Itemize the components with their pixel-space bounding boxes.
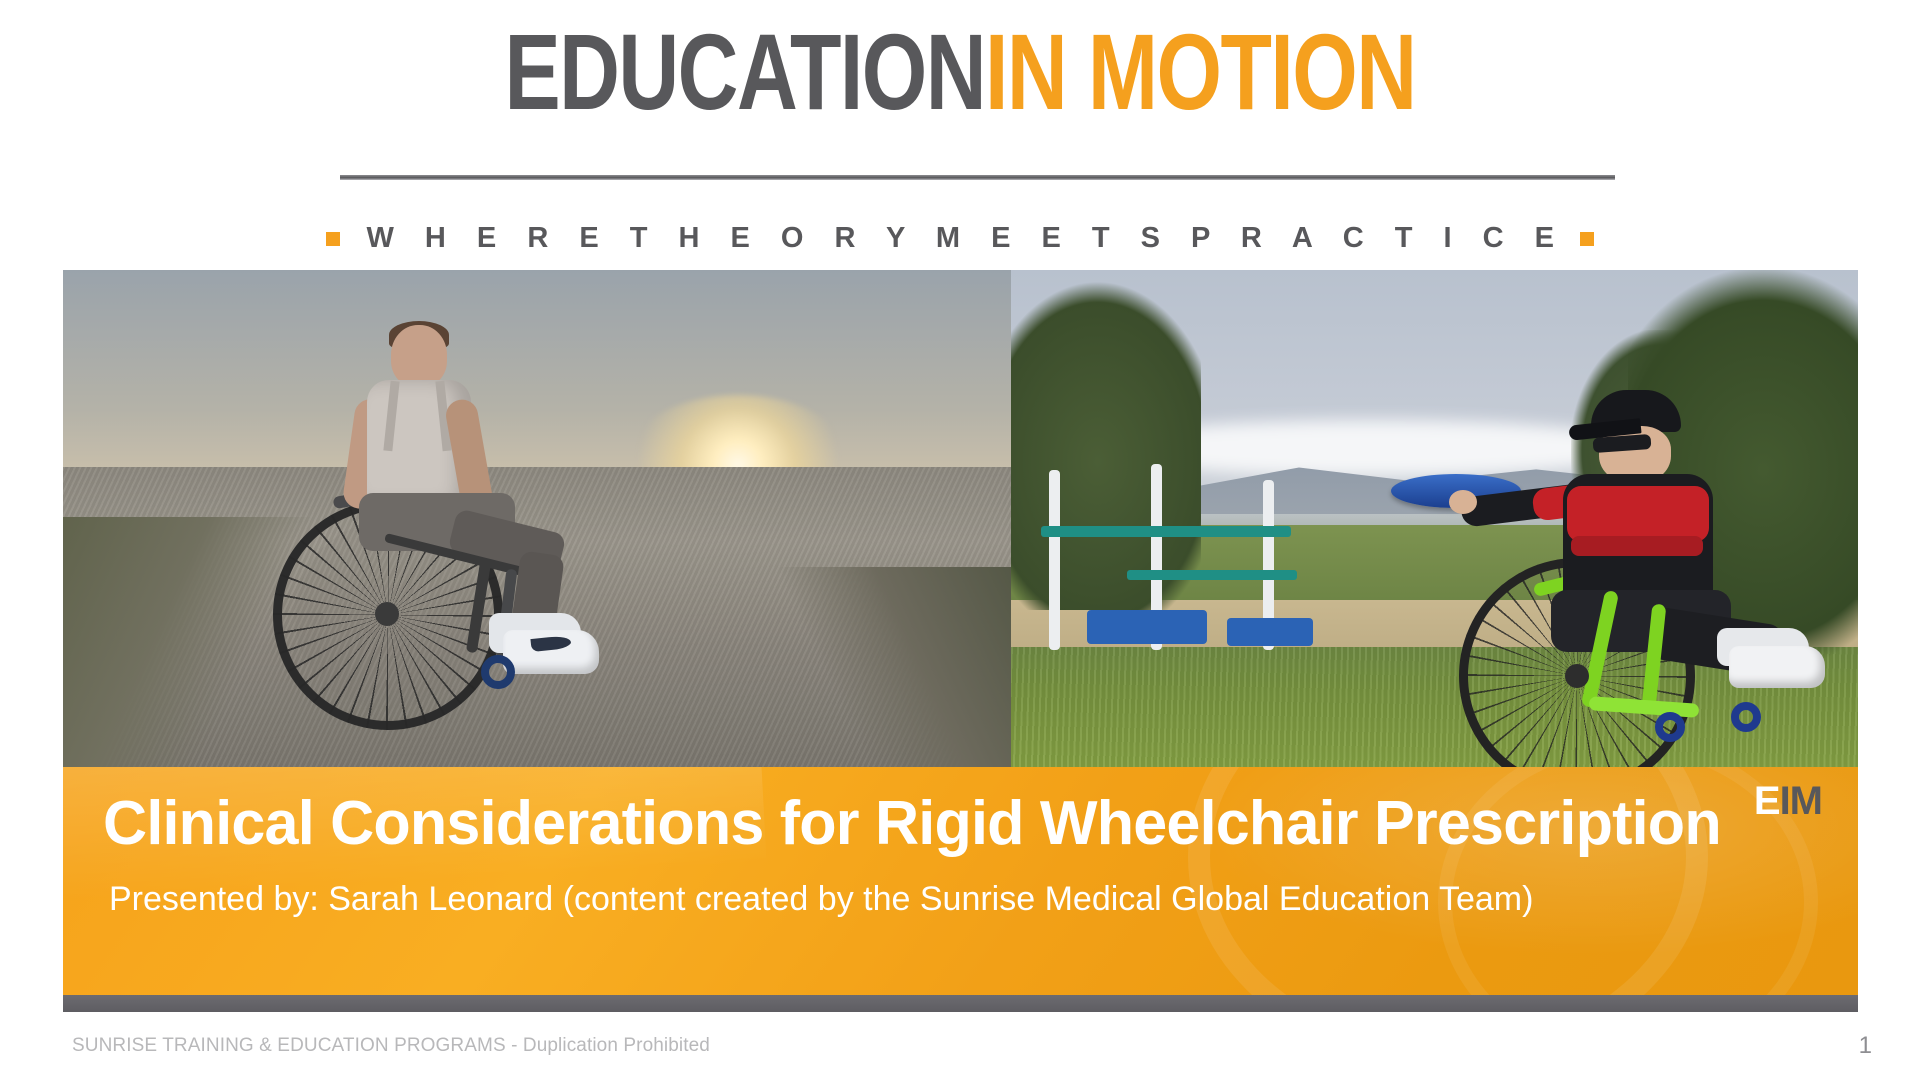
- tagline-text: W H E R E T H E O R Y M E E T S P R A C …: [366, 222, 1565, 255]
- playground-rail-teal-1: [1041, 526, 1291, 537]
- banner-bottom-bar: [63, 995, 1858, 1012]
- playground-equipment: [1031, 460, 1361, 660]
- presentation-slide: EDUCATIONIN MOTION W H E R E T H E O R Y…: [0, 0, 1920, 1080]
- jacket-red-panel: [1567, 486, 1709, 542]
- wheelchair-user-figure: [263, 325, 623, 745]
- playground-post-1: [1049, 470, 1060, 650]
- logo-education-text: EDUCATION: [505, 11, 985, 132]
- wheel-hub: [1565, 664, 1589, 688]
- road-edge-right: [751, 567, 1011, 767]
- photo-man-on-gravel-road: [63, 270, 1011, 767]
- page-title: Clinical Considerations for Rigid Wheelc…: [103, 791, 1718, 856]
- shoe-front: [1729, 646, 1825, 688]
- education-in-motion-logo: EDUCATIONIN MOTION: [0, 18, 1920, 126]
- logo-divider-rule: [340, 175, 1615, 180]
- playground-panel-blue: [1087, 610, 1207, 644]
- head: [391, 325, 447, 387]
- wheel-hub: [375, 602, 399, 626]
- presenter-subtitle: Presented by: Sarah Leonard (content cre…: [109, 879, 1729, 920]
- logo-wordmark: EDUCATIONIN MOTION: [211, 18, 1709, 126]
- boy-in-wheelchair-figure: [1441, 390, 1858, 760]
- hand: [1449, 490, 1477, 514]
- logo-in-motion-text: IN MOTION: [985, 11, 1416, 132]
- eim-badge-im: IM: [1780, 779, 1822, 823]
- front-caster-wheel: [481, 655, 515, 689]
- front-caster-wheel-1: [1655, 712, 1685, 742]
- playground-panel-blue-2: [1227, 618, 1313, 646]
- tagline-square-left-icon: [326, 232, 340, 246]
- tagline-square-right-icon: [1580, 232, 1594, 246]
- footer-copyright: SUNRISE TRAINING & EDUCATION PROGRAMS - …: [72, 1035, 710, 1057]
- photo-boy-with-frisbee: [1011, 270, 1858, 767]
- photo-strip: [63, 270, 1858, 767]
- tagline-row: W H E R E T H E O R Y M E E T S P R A C …: [0, 222, 1920, 255]
- title-banner: Clinical Considerations for Rigid Wheelc…: [63, 767, 1858, 995]
- footer-page-number: 1: [1859, 1032, 1872, 1060]
- eim-badge-e: E: [1754, 779, 1780, 823]
- eim-badge: EIM: [1754, 781, 1822, 821]
- jacket-red-stripe: [1571, 536, 1703, 556]
- front-caster-wheel-2: [1731, 702, 1761, 732]
- playground-rail-teal-2: [1127, 570, 1297, 580]
